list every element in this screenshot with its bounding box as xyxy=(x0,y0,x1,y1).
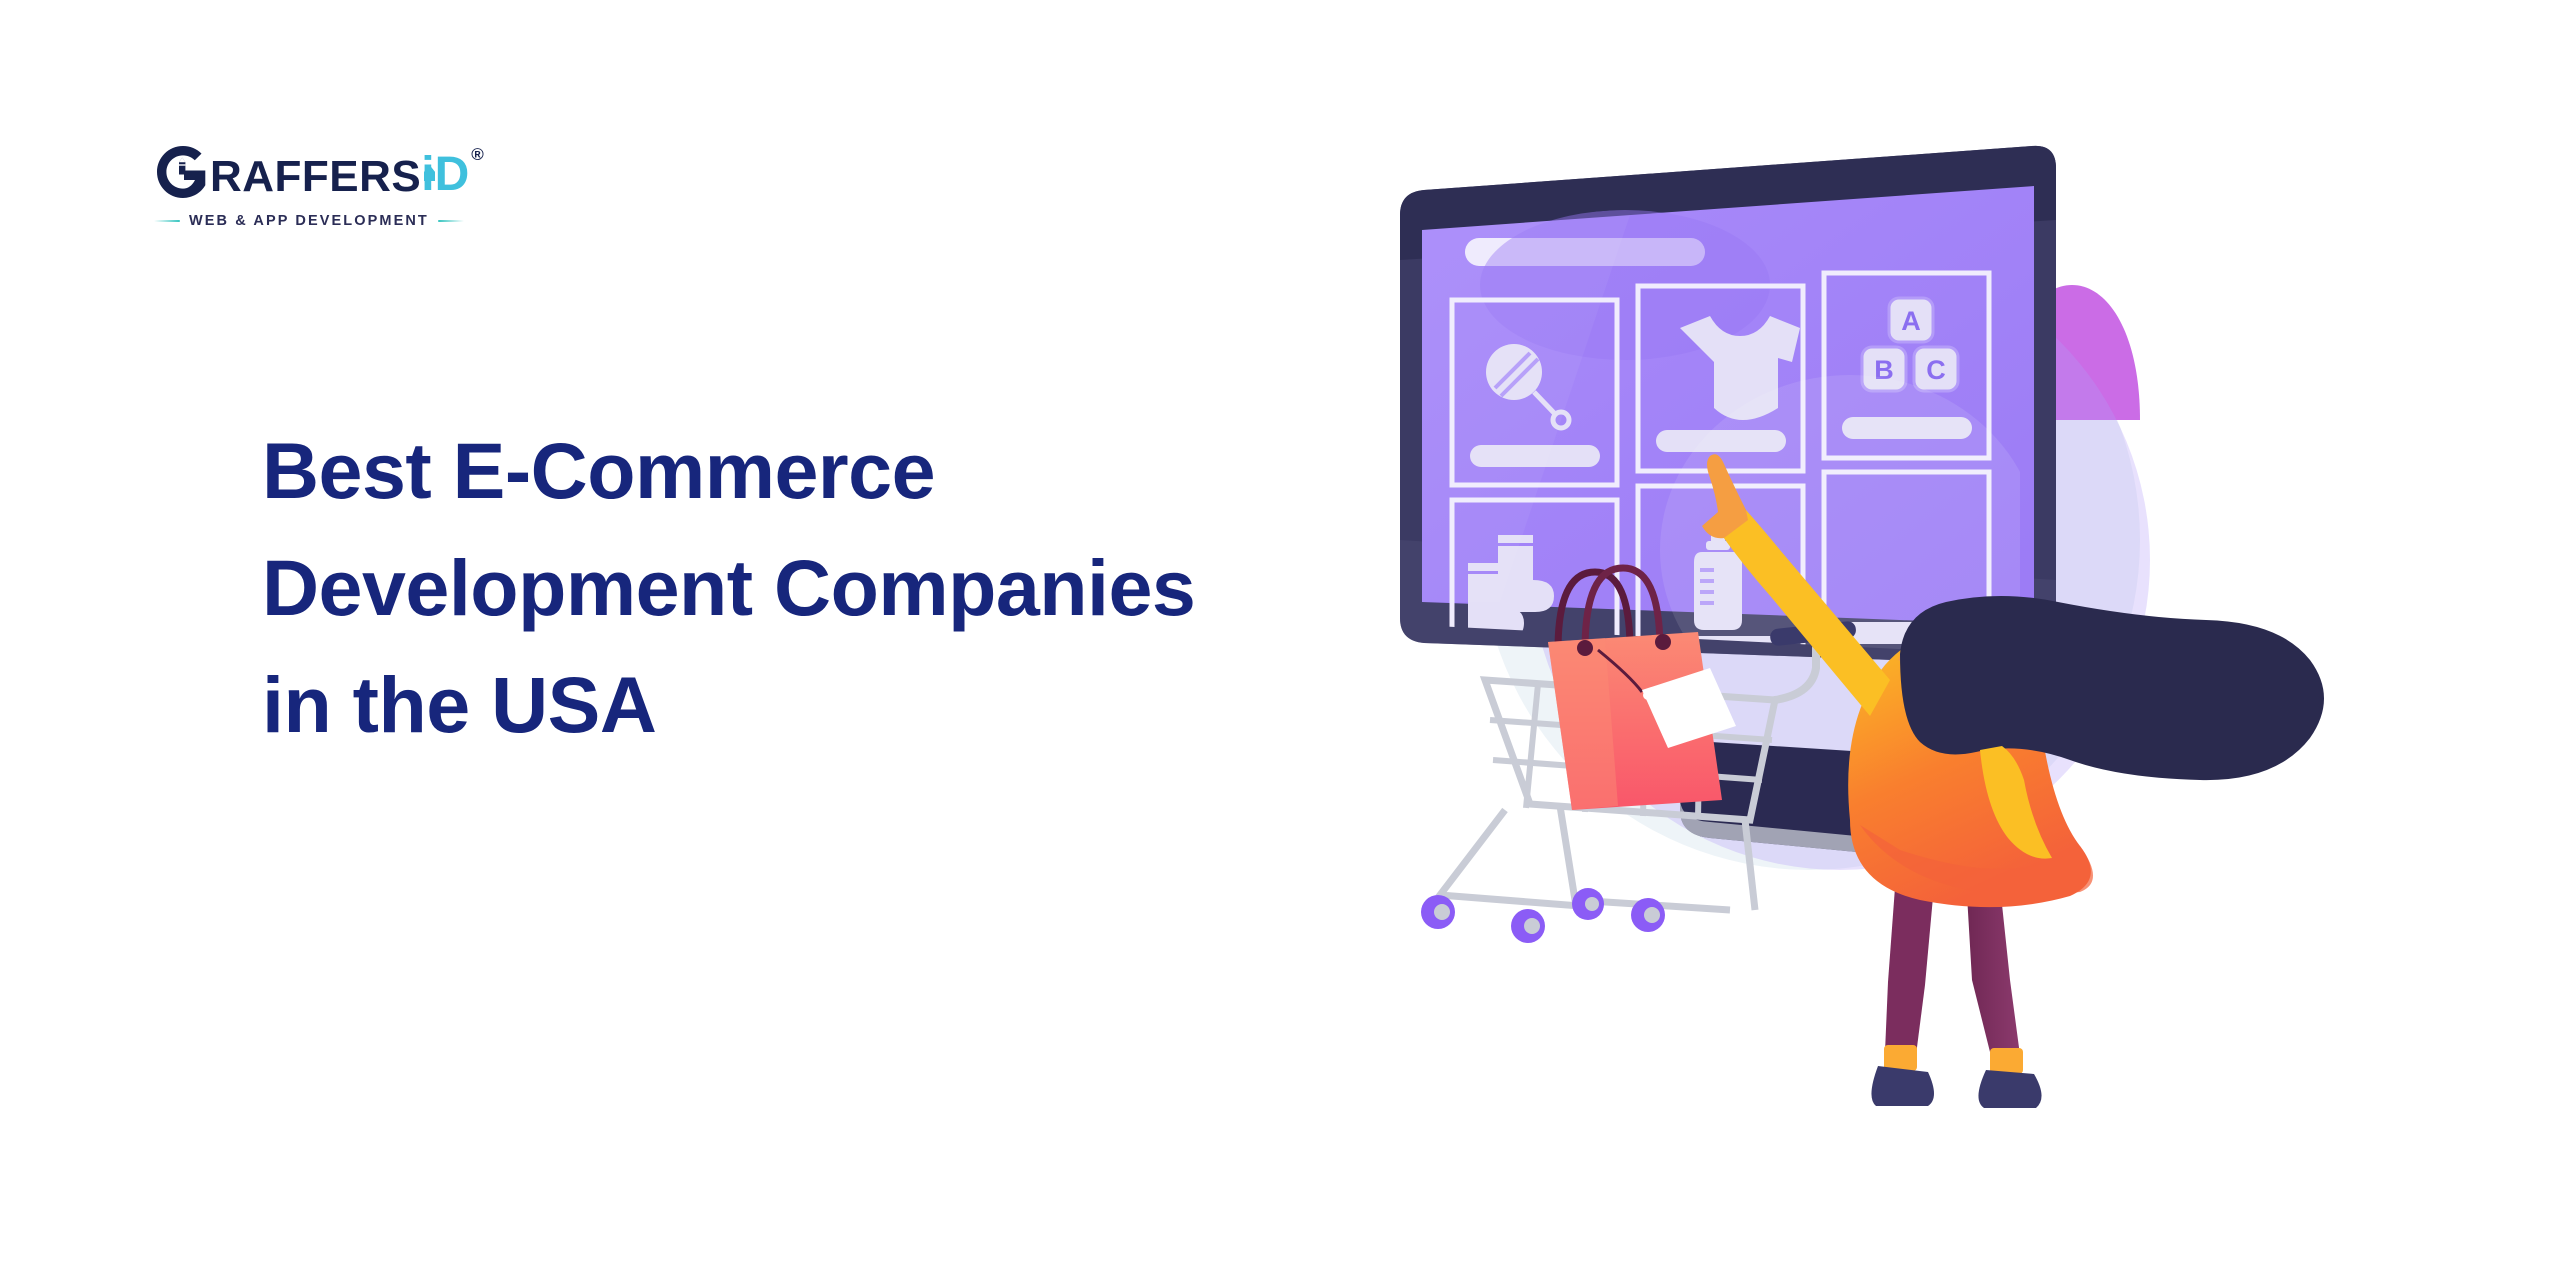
hair xyxy=(1900,596,2324,780)
sock-front xyxy=(1884,1045,1917,1071)
shoe-back xyxy=(1978,1070,2041,1108)
logo-tagline-row: WEB & APP DEVELOPMENT xyxy=(154,213,492,229)
logo-tagline: WEB & APP DEVELOPMENT xyxy=(189,213,429,229)
logo-text-raffers: RAFFERS xyxy=(210,155,421,199)
shoe-front xyxy=(1871,1066,1934,1106)
tagline-dash-left-icon xyxy=(154,220,180,222)
sock-back xyxy=(1990,1048,2023,1074)
abc-block-letter-c: C xyxy=(1926,355,1946,385)
hero-illustration: A B C xyxy=(1380,120,2400,1120)
site-logo[interactable]: RAFFERS iD ® WEB & APP DEVELOPMENT xyxy=(152,142,492,229)
logo-pencil-tip-icon xyxy=(423,142,436,158)
page-title: Best E-Commerce Development Companies in… xyxy=(262,413,1262,764)
logo-g-mark-icon xyxy=(152,142,214,204)
logo-text-id: iD xyxy=(421,151,469,199)
logo-wordmark: RAFFERS iD ® xyxy=(152,142,492,204)
tagline-dash-right-icon xyxy=(438,220,464,222)
abc-block-letter-a: A xyxy=(1901,306,1921,336)
logo-registered-mark: ® xyxy=(471,146,484,163)
